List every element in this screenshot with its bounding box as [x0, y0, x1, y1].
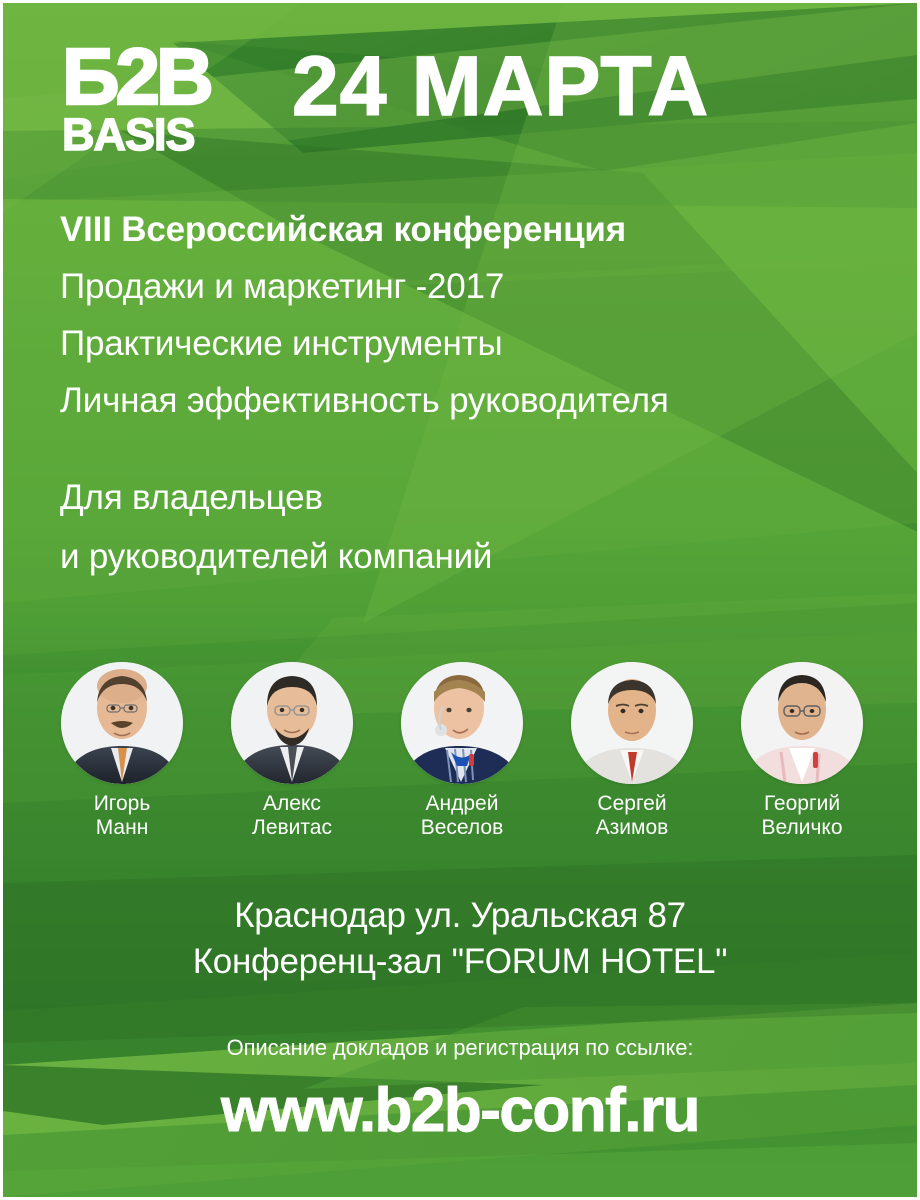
audience-line-2: и руководителей компаний [60, 539, 880, 574]
audience-line-1: Для владельцев [60, 480, 880, 515]
logo-sub-text: BASIS [62, 112, 257, 157]
speaker-first-name: Алекс [263, 792, 321, 815]
poster-header: Б2В BASIS 24 МАРТА [0, 0, 920, 195]
footer-block: Описание докладов и регистрация по ссылк… [0, 1035, 920, 1146]
event-date: 24 МАРТА [292, 44, 709, 128]
speaker-name: Сергей Азимов [596, 792, 669, 840]
website-url[interactable]: www.b2b-conf.ru [0, 1075, 920, 1146]
venue-hall: Конференц-зал "FORUM HOTEL" [0, 939, 920, 985]
headline-block: VIII Всероссийская конференция Продажи и… [60, 212, 880, 598]
b2b-basis-logo: Б2В BASIS [62, 44, 257, 157]
headline-line-3: Личная эффективность руководителя [60, 383, 880, 418]
venue-address: Краснодар ул. Уральская 87 [0, 893, 920, 939]
speaker-first-name: Сергей [597, 792, 666, 815]
speaker-last-name: Манн [96, 816, 149, 839]
registration-note: Описание докладов и регистрация по ссылк… [0, 1035, 920, 1061]
conference-title: VIII Всероссийская конференция [60, 212, 880, 247]
speaker-last-name: Веселов [421, 816, 504, 839]
headline-spacer [60, 440, 880, 480]
speaker-name: Андрей Веселов [421, 792, 504, 840]
speaker-last-name: Азимов [596, 816, 669, 839]
portrait-andrey-veselov [401, 662, 523, 784]
headline-line-2: Практические инструменты [60, 326, 880, 361]
venue-block: Краснодар ул. Уральская 87 Конференц-зал… [0, 893, 920, 985]
logo-main-text: Б2В [62, 44, 257, 110]
speaker-first-name: Игорь [94, 792, 151, 815]
speaker-card: Георгий Величко [722, 662, 882, 840]
speaker-card: Сергей Азимов [552, 662, 712, 840]
speaker-name: Алекс Левитас [252, 792, 332, 840]
speaker-card: Алекс Левитас [212, 662, 372, 840]
speaker-name: Георгий Величко [761, 792, 842, 840]
portrait-sergey-azimov [571, 662, 693, 784]
speaker-name: Игорь Манн [94, 792, 151, 840]
portrait-igor-mann [61, 662, 183, 784]
speaker-card: Игорь Манн [42, 662, 202, 840]
speaker-last-name: Левитас [252, 816, 332, 839]
portrait-alex-levitas [231, 662, 353, 784]
speaker-card: Андрей Веселов [382, 662, 542, 840]
conference-poster: Б2В BASIS 24 МАРТА VIII Всероссийская ко… [0, 0, 920, 1200]
speakers-row: Игорь Манн [42, 662, 882, 862]
speaker-last-name: Величко [761, 816, 842, 839]
portrait-georgiy-velichko [741, 662, 863, 784]
headline-line-1: Продажи и маркетинг -2017 [60, 269, 880, 304]
speaker-first-name: Андрей [426, 792, 499, 815]
speaker-first-name: Георгий [764, 792, 840, 815]
